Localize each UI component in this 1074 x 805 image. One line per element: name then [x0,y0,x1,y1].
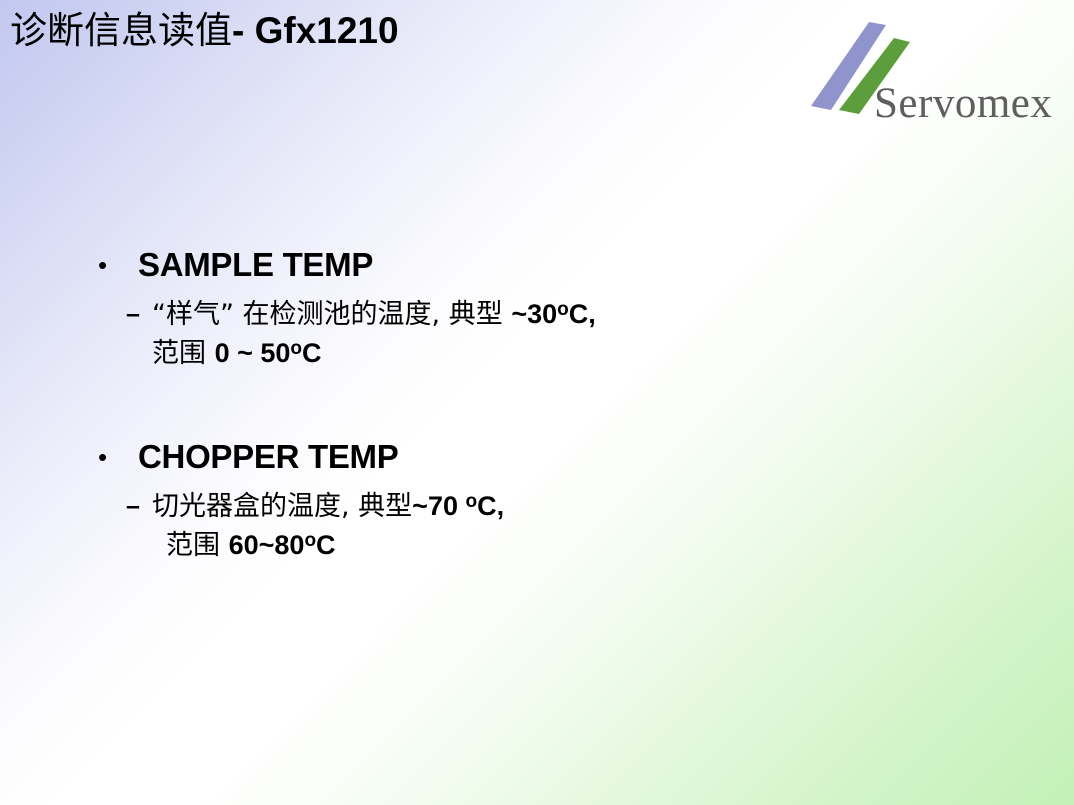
bullet-heading-sample-temp: •SAMPLE TEMP [86,244,1016,286]
detail-range-line: 范围 60~80oC [152,527,1016,564]
degree-symbol: o [304,530,316,551]
detail-range-unit: C [316,530,336,560]
slide-title-chinese: 诊断信息读值 [10,9,232,52]
detail-value-typical: ~70 [412,491,465,521]
logo-wordmark: Servomex [874,80,1052,128]
bullet-dot-icon: • [98,244,107,286]
bullet-heading-label: CHOPPER TEMP [138,438,398,475]
bullet-detail-sample-temp: –“样气” 在检测池的温度, 典型 ~30oC, 范围 0 ~ 50oC [86,296,1016,372]
detail-range-value: 0 ~ 50 [215,338,291,368]
dash-icon: – [126,488,140,525]
detail-text-a: “样气” 在检测池的温度, 典型 [152,299,511,330]
detail-range-label: 范围 [152,338,215,369]
bullet-heading-label: SAMPLE TEMP [138,246,373,283]
dash-icon: – [126,296,140,333]
detail-range-unit: C [302,338,322,368]
bullet-block-chopper-temp: •CHOPPER TEMP –切光器盒的温度, 典型~70 oC, 范围 60~… [86,436,1016,564]
slide-body: •SAMPLE TEMP –“样气” 在检测池的温度, 典型 ~30oC, 范围… [86,244,1016,564]
bullet-block-sample-temp: •SAMPLE TEMP –“样气” 在检测池的温度, 典型 ~30oC, 范围… [86,244,1016,372]
bullet-detail-chopper-temp: –切光器盒的温度, 典型~70 oC, 范围 60~80oC [86,488,1016,564]
detail-range-value: 60~80 [229,530,305,560]
bullet-heading-chopper-temp: •CHOPPER TEMP [86,436,1016,478]
detail-text-a: 切光器盒的温度, 典型 [152,491,412,522]
detail-value-typical: ~30 [511,299,557,329]
detail-unit: C, [477,491,504,521]
detail-range-label: 范围 [166,530,229,561]
slide-canvas: 诊断信息读值- Gfx1210 Servomex •SAMPLE TEMP –“… [0,0,1074,805]
degree-symbol: o [290,338,302,359]
slide-title: 诊断信息读值- Gfx1210 [10,8,399,54]
degree-symbol: o [557,299,569,320]
detail-unit: C, [569,299,596,329]
degree-symbol: o [465,491,477,512]
detail-range-line: 范围 0 ~ 50oC [152,335,1016,372]
bullet-dot-icon: • [98,436,107,478]
servomex-logo: Servomex [806,20,1068,132]
slide-title-model: - Gfx1210 [232,10,399,51]
